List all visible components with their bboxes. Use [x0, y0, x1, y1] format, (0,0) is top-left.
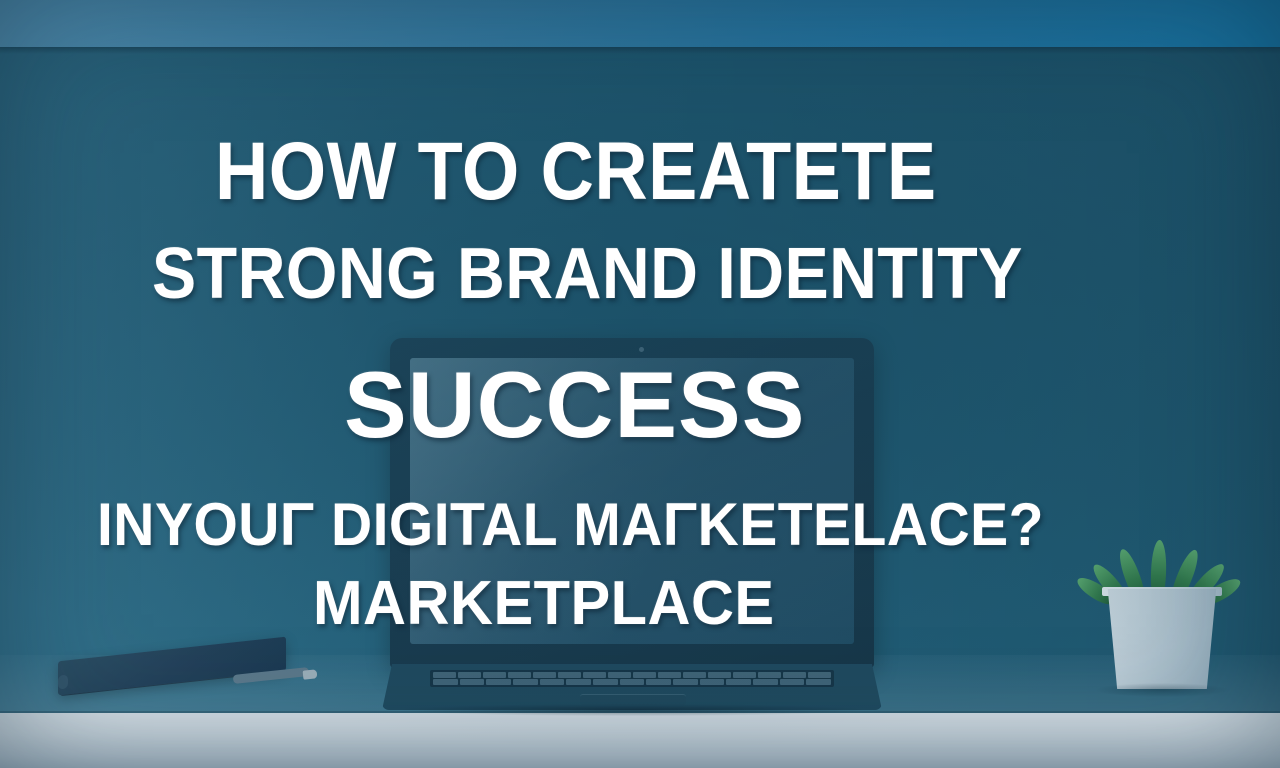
headline-line-3: SUCCESS: [344, 358, 805, 452]
banner-image: HOW TO CREATETE STRONG BRAND IDENTITY SU…: [0, 0, 1280, 768]
headline-line-2: STRONG BRAND IDENTITY: [152, 238, 1023, 310]
headline-overlay: HOW TO CREATETE STRONG BRAND IDENTITY SU…: [0, 0, 1280, 768]
headline-line-1: HOW TO CREATETE: [215, 131, 937, 213]
headline-line-5: MARKETPLACE: [313, 573, 775, 635]
headline-line-4: INYOUΓ DIGITAL MAΓKETELACE?: [97, 495, 1044, 555]
